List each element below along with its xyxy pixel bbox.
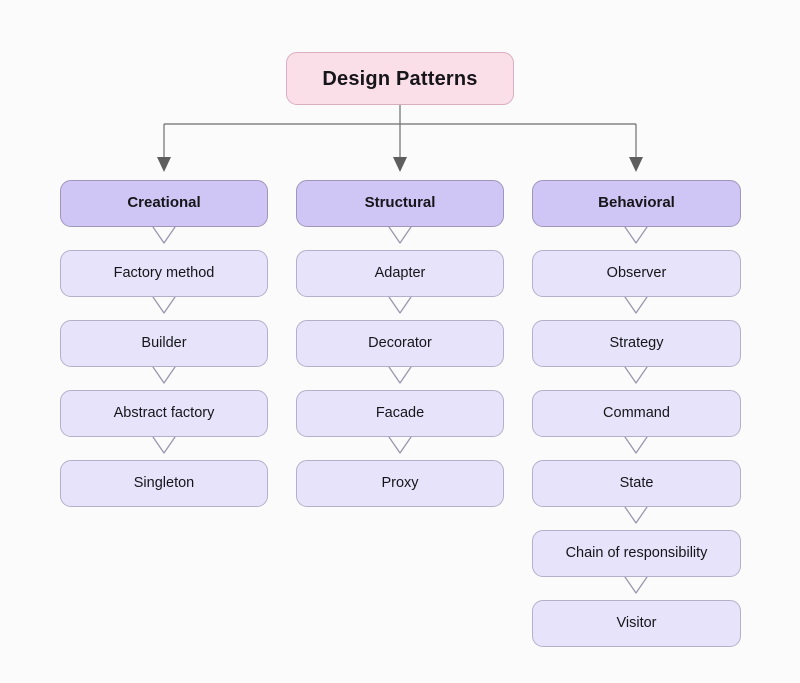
node-pattern-facade[interactable]: Facade bbox=[296, 390, 504, 437]
design-patterns-diagram: Design Patterns Creational Factory metho… bbox=[0, 0, 800, 683]
node-pattern-strategy[interactable]: Strategy bbox=[532, 320, 741, 367]
node-pattern-builder[interactable]: Builder bbox=[60, 320, 268, 367]
chevron-icon bbox=[153, 437, 175, 453]
chevron-icon bbox=[389, 367, 411, 383]
chevron-icon bbox=[153, 367, 175, 383]
arrowheads bbox=[157, 157, 643, 172]
node-pattern-proxy[interactable]: Proxy bbox=[296, 460, 504, 507]
chevron-icon bbox=[389, 437, 411, 453]
node-category-behavioral[interactable]: Behavioral bbox=[532, 180, 741, 227]
chevron-icon bbox=[389, 297, 411, 313]
chevron-icon bbox=[389, 227, 411, 243]
node-pattern-factory-method[interactable]: Factory method bbox=[60, 250, 268, 297]
arrowhead-structural bbox=[393, 157, 407, 172]
node-pattern-state[interactable]: State bbox=[532, 460, 741, 507]
arrowhead-behavioral bbox=[629, 157, 643, 172]
node-pattern-chain-of-responsibility[interactable]: Chain of responsibility bbox=[532, 530, 741, 577]
node-root-design-patterns[interactable]: Design Patterns bbox=[286, 52, 514, 105]
chevron-icon bbox=[153, 227, 175, 243]
node-pattern-decorator[interactable]: Decorator bbox=[296, 320, 504, 367]
node-pattern-visitor[interactable]: Visitor bbox=[532, 600, 741, 647]
node-pattern-adapter[interactable]: Adapter bbox=[296, 250, 504, 297]
chevron-icon bbox=[625, 297, 647, 313]
node-category-structural[interactable]: Structural bbox=[296, 180, 504, 227]
node-pattern-singleton[interactable]: Singleton bbox=[60, 460, 268, 507]
node-category-creational[interactable]: Creational bbox=[60, 180, 268, 227]
node-pattern-command[interactable]: Command bbox=[532, 390, 741, 437]
chevron-icon bbox=[625, 227, 647, 243]
chevron-icon bbox=[153, 297, 175, 313]
arrowhead-creational bbox=[157, 157, 171, 172]
node-pattern-observer[interactable]: Observer bbox=[532, 250, 741, 297]
node-pattern-abstract-factory[interactable]: Abstract factory bbox=[60, 390, 268, 437]
chevron-icon bbox=[625, 437, 647, 453]
chevron-icon bbox=[625, 577, 647, 593]
chevron-icon bbox=[625, 507, 647, 523]
chevron-icon bbox=[625, 367, 647, 383]
